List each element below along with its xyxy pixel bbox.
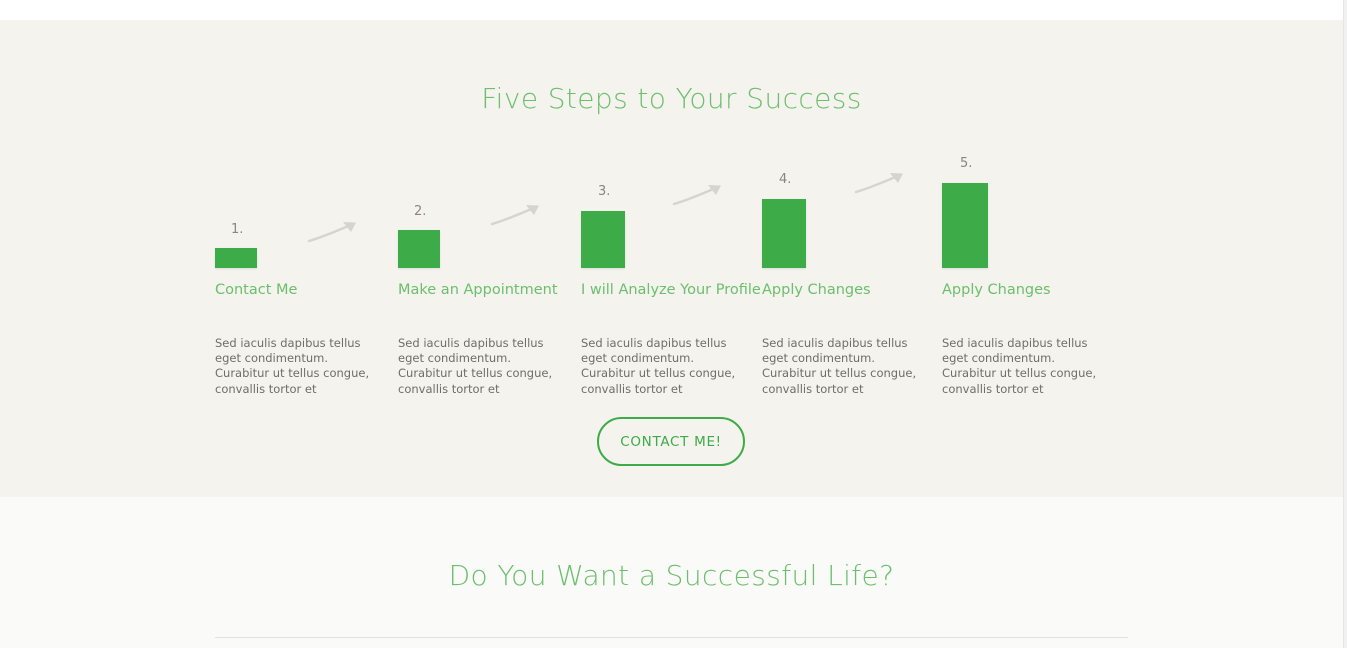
step-title[interactable]: Apply Changes (762, 281, 871, 300)
top-white-strip (0, 0, 1343, 20)
step-item-2[interactable]: 2. Make an Appointment Sed iaculis dapib… (398, 120, 576, 380)
step-bar (215, 248, 257, 268)
step-number: 1. (231, 222, 243, 238)
step-description: Sed iaculis dapibus tellus eget condimen… (762, 336, 930, 397)
steps-chart: 1. Contact Me Sed iaculis dapibus tellus… (215, 120, 1130, 380)
step-bar (581, 211, 625, 268)
five-steps-section: Five Steps to Your Success 1. Contact Me… (0, 20, 1343, 497)
step-title[interactable]: Apply Changes (942, 281, 1051, 300)
step-number: 2. (414, 204, 426, 220)
section-title: Do You Want a Successful Life? (0, 559, 1343, 593)
vertical-scrollbar[interactable] (1343, 0, 1347, 648)
step-bar (762, 199, 806, 268)
page-root: Five Steps to Your Success 1. Contact Me… (0, 0, 1347, 648)
step-title[interactable]: I will Analyze Your Profile (581, 281, 761, 300)
step-description: Sed iaculis dapibus tellus eget condimen… (398, 336, 566, 397)
step-item-3[interactable]: 3. I will Analyze Your Profile Sed iacul… (581, 120, 759, 380)
successful-life-section: Do You Want a Successful Life? (0, 497, 1343, 648)
step-number: 4. (779, 172, 791, 188)
step-item-1[interactable]: 1. Contact Me Sed iaculis dapibus tellus… (215, 120, 393, 380)
step-description: Sed iaculis dapibus tellus eget condimen… (581, 336, 749, 397)
step-description: Sed iaculis dapibus tellus eget condimen… (942, 336, 1110, 397)
step-number: 3. (598, 184, 610, 200)
step-title[interactable]: Make an Appointment (398, 281, 558, 300)
step-title[interactable]: Contact Me (215, 281, 297, 300)
divider (215, 637, 1128, 638)
step-item-4[interactable]: 4. Apply Changes Sed iaculis dapibus tel… (762, 120, 940, 380)
step-bar (942, 183, 988, 268)
step-number: 5. (960, 156, 972, 172)
page-title: Five Steps to Your Success (0, 82, 1343, 116)
step-description: Sed iaculis dapibus tellus eget condimen… (215, 336, 383, 397)
step-item-5[interactable]: 5. Apply Changes Sed iaculis dapibus tel… (942, 120, 1130, 380)
step-bar (398, 230, 440, 268)
contact-me-button[interactable]: CONTACT ME! (597, 417, 745, 466)
